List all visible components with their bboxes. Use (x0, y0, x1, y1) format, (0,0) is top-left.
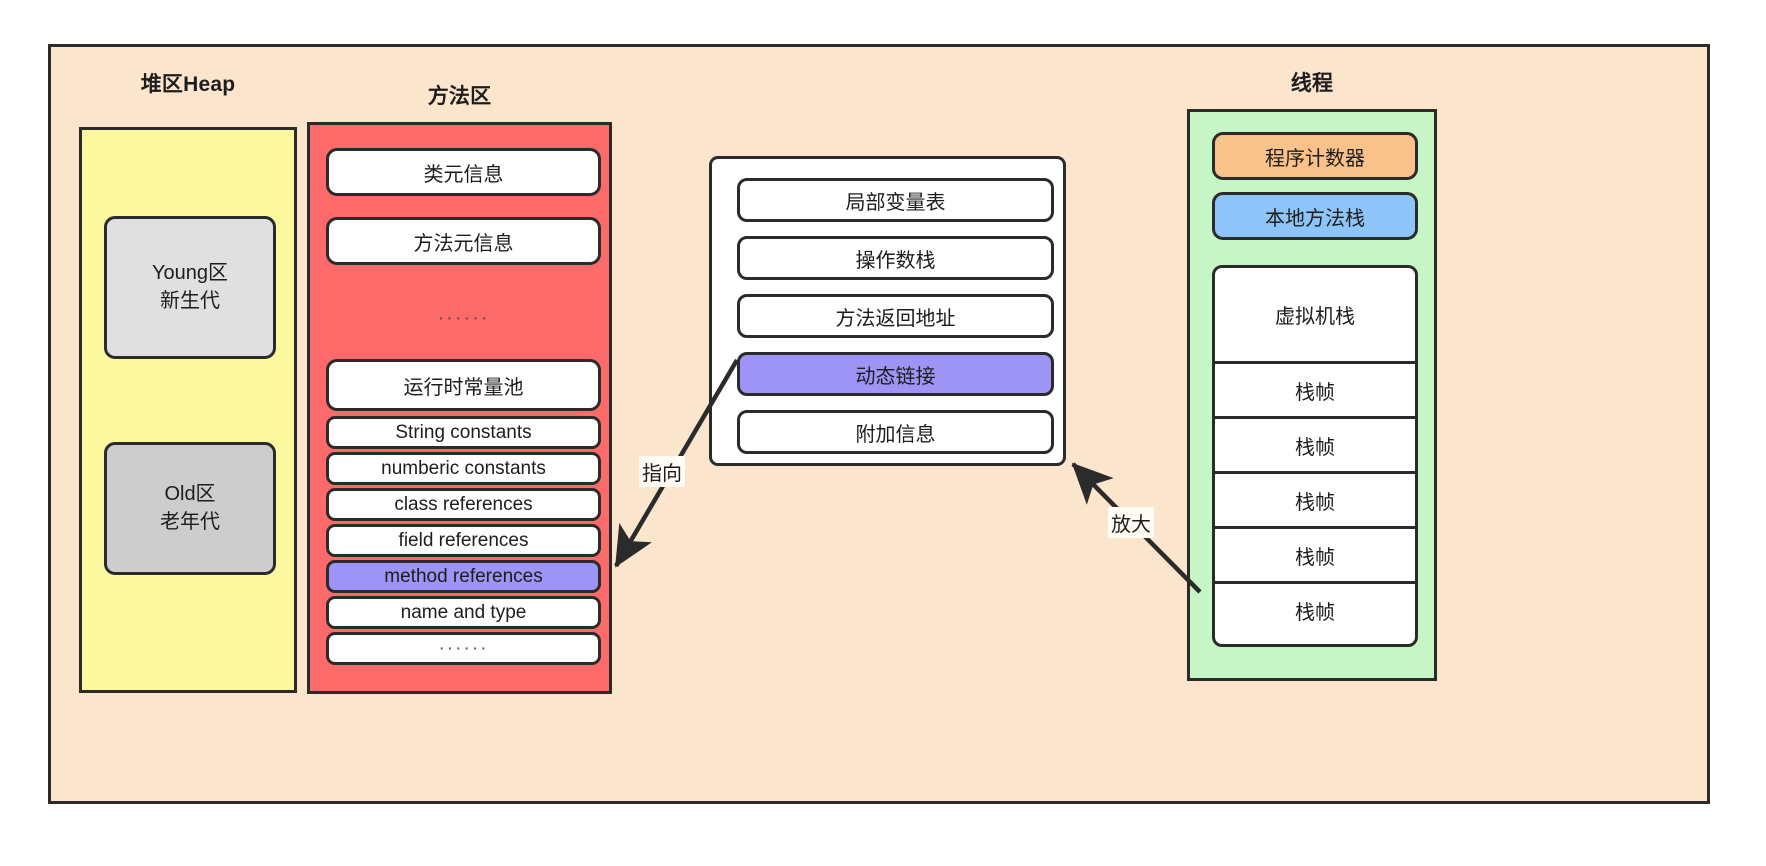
diagram-canvas: 堆区Heap 方法区 Method Area 线程 Young区 新生代 Old… (0, 0, 1766, 866)
frame-additional-info: 附加信息 (737, 410, 1054, 454)
method-area-ellipsis: ······ (326, 297, 601, 339)
thread-region: 程序计数器 本地方法栈 虚拟机栈 栈帧 栈帧 栈帧 栈帧 栈帧 (1187, 109, 1437, 681)
program-counter-box: 程序计数器 (1212, 132, 1418, 180)
vm-stack-frame: 栈帧 (1215, 581, 1415, 636)
vm-stack-box: 虚拟机栈 栈帧 栈帧 栈帧 栈帧 栈帧 (1212, 265, 1418, 647)
class-metadata-box: 类元信息 (326, 148, 601, 196)
pool-entry-ellipsis: ······ (326, 632, 601, 665)
arrow-label-points-to: 指向 (639, 456, 685, 487)
frame-return-address: 方法返回地址 (737, 294, 1054, 338)
young-generation-box: Young区 新生代 (104, 216, 276, 359)
heap-region: Young区 新生代 Old区 老年代 (79, 127, 297, 693)
method-metadata-box: 方法元信息 (326, 217, 601, 265)
vm-stack-label: 虚拟机栈 (1215, 268, 1415, 361)
pool-entry-field-references: field references (326, 524, 601, 557)
arrow-label-zoom-in: 放大 (1108, 507, 1154, 538)
vm-stack-frame: 栈帧 (1215, 471, 1415, 526)
method-area-region: 类元信息 方法元信息 ······ 运行时常量池 String constant… (307, 122, 612, 694)
young-generation-label-en: Young区 (152, 260, 228, 288)
frame-dynamic-linking: 动态链接 (737, 352, 1054, 396)
old-generation-box: Old区 老年代 (104, 442, 276, 575)
method-area-caption-cn: 方法区 (307, 84, 612, 110)
stack-frame-detail-box: 局部变量表 操作数栈 方法返回地址 动态链接 附加信息 (709, 156, 1066, 466)
pool-entry-numeric-constants: numberic constants (326, 452, 601, 485)
pool-entry-class-references: class references (326, 488, 601, 521)
vm-stack-frame: 栈帧 (1215, 361, 1415, 416)
frame-local-variable-table: 局部变量表 (737, 178, 1054, 222)
vm-stack-frame: 栈帧 (1215, 526, 1415, 581)
young-generation-label-cn: 新生代 (160, 288, 220, 316)
heap-caption: 堆区Heap (79, 72, 297, 98)
old-generation-label-en: Old区 (164, 481, 215, 509)
frame-operand-stack: 操作数栈 (737, 236, 1054, 280)
pool-entry-method-references: method references (326, 560, 601, 593)
pool-entry-name-and-type: name and type (326, 596, 601, 629)
old-generation-label-cn: 老年代 (160, 509, 220, 537)
vm-stack-frame: 栈帧 (1215, 416, 1415, 471)
thread-caption: 线程 (1187, 71, 1437, 97)
native-method-stack-box: 本地方法栈 (1212, 192, 1418, 240)
pool-entry-string-constants: String constants (326, 416, 601, 449)
runtime-constant-pool-box: 运行时常量池 (326, 359, 601, 411)
